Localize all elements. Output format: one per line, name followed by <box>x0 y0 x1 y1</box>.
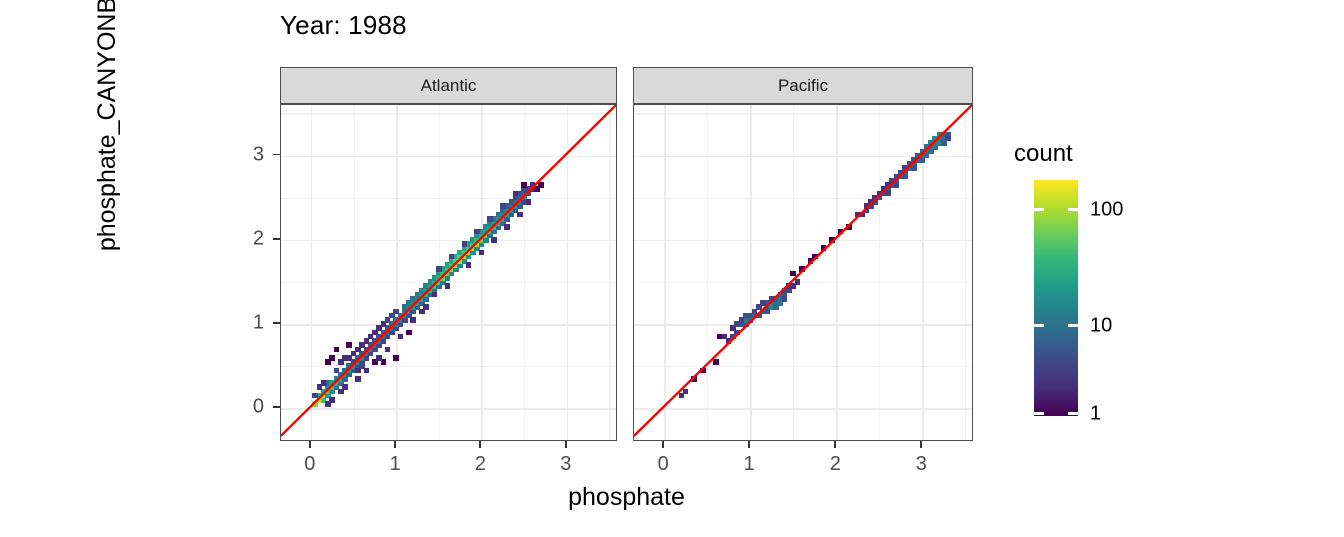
heatmap-bin <box>487 216 493 222</box>
legend-colorbar <box>1034 180 1078 416</box>
facet-strip-label: Pacific <box>634 68 972 103</box>
x-axis-tick <box>309 441 311 448</box>
y-axis-title: phosphate_CANYONB <box>89 0 125 289</box>
x-axis-tick-label: 2 <box>830 453 841 476</box>
heatmap-bin <box>321 380 327 386</box>
x-axis-tick-label: 0 <box>658 453 669 476</box>
heatmap-bin <box>500 203 506 209</box>
panel-plot-area <box>634 105 972 440</box>
x-axis-tick-label: 1 <box>744 453 755 476</box>
heatmap-bin <box>393 309 399 315</box>
legend-key-label-1: 1 <box>1090 403 1101 426</box>
heatmap-bin <box>449 254 455 260</box>
x-axis-tick <box>479 441 481 448</box>
heatmap-bin <box>691 376 697 382</box>
heatmap-bin <box>534 186 540 192</box>
legend-tick-1 <box>1034 412 1044 415</box>
heatmap-bin <box>436 266 442 272</box>
page-title: Year: 1988 <box>280 10 407 41</box>
heatmap-bin <box>521 182 527 188</box>
heatmap-bin <box>393 355 399 361</box>
heatmap-bin <box>743 313 749 319</box>
panel-atlantic <box>280 104 617 441</box>
heatmap-bin <box>838 229 844 235</box>
gridline-minor-horizontal <box>634 282 972 283</box>
heatmap-bin <box>769 296 775 302</box>
heatmap-bin <box>864 203 870 209</box>
heatmap-bin <box>513 191 519 197</box>
gridline-major-horizontal <box>281 324 616 326</box>
heatmap-bin <box>479 250 485 256</box>
gridline-major-horizontal <box>281 408 616 410</box>
gridline-major-horizontal <box>634 324 972 326</box>
heatmap-bin <box>329 355 335 361</box>
facet-strip-pacific: Pacific <box>633 67 973 104</box>
heatmap-bin <box>334 347 340 353</box>
heatmap-bin <box>491 237 497 243</box>
heatmap-bin <box>773 304 779 310</box>
heatmap-bin <box>829 237 835 243</box>
heatmap-bin <box>799 266 805 272</box>
y-axis-tick-label: 1 <box>218 312 264 335</box>
heatmap-bin <box>812 254 818 260</box>
x-axis-tick <box>565 441 567 448</box>
x-axis-tick-label: 3 <box>560 453 571 476</box>
x-axis-title: phosphate <box>280 483 973 512</box>
gridline-major-horizontal <box>281 240 616 242</box>
legend-tick-100-right <box>1068 208 1078 211</box>
heatmap-bin <box>700 368 706 374</box>
heatmap-bin <box>410 317 416 323</box>
x-axis-tick-label: 0 <box>304 453 315 476</box>
gridline-minor-horizontal <box>634 113 972 114</box>
heatmap-bin <box>406 330 412 336</box>
facet-strip-label: Atlantic <box>281 68 616 103</box>
heatmap-bin <box>786 283 792 289</box>
heatmap-bin <box>432 292 438 298</box>
heatmap-bin <box>846 224 852 230</box>
gridline-minor-horizontal <box>281 366 616 367</box>
legend-tick-10-right <box>1068 324 1078 327</box>
gridline-major-horizontal <box>634 408 972 410</box>
heatmap-bin <box>329 397 335 403</box>
legend-title: count <box>1014 140 1073 168</box>
heatmap-bin <box>526 199 532 205</box>
heatmap-bin <box>346 342 352 348</box>
y-axis-tick <box>273 322 280 324</box>
heatmap-bin <box>334 368 340 374</box>
gridline-major-horizontal <box>634 240 972 242</box>
heatmap-bin <box>364 368 370 374</box>
legend-tick-100 <box>1034 208 1044 211</box>
gridline-major-horizontal <box>281 156 616 158</box>
legend-tick-10 <box>1034 324 1044 327</box>
y-axis-tick <box>273 154 280 156</box>
heatmap-bin <box>795 279 801 285</box>
legend-key-label-10: 10 <box>1090 315 1112 338</box>
x-axis-tick <box>394 441 396 448</box>
heatmap-bin <box>713 359 719 365</box>
heatmap-bin <box>683 389 689 395</box>
heatmap-bin <box>941 140 947 146</box>
panel-pacific <box>633 104 973 441</box>
heatmap-bin <box>445 283 451 289</box>
panel-plot-area <box>281 105 616 440</box>
heatmap-bin <box>790 271 796 277</box>
y-axis-tick-label: 0 <box>218 396 264 419</box>
y-axis-tick <box>273 238 280 240</box>
heatmap-bin <box>466 262 472 268</box>
ggplot-figure: Year: 1988 phosphate_CANYONB phosphate A… <box>0 0 1344 537</box>
heatmap-bin <box>937 132 943 138</box>
gridline-minor-horizontal <box>281 198 616 199</box>
y-axis-tick <box>273 406 280 408</box>
x-axis-tick <box>662 441 664 448</box>
x-axis-tick <box>920 441 922 448</box>
heatmap-bin <box>312 393 318 399</box>
heatmap-bin <box>474 229 480 235</box>
x-axis-tick-label: 3 <box>916 453 927 476</box>
x-axis-tick <box>834 441 836 448</box>
y-axis-tick-label: 2 <box>218 227 264 250</box>
x-axis-tick-label: 1 <box>390 453 401 476</box>
heatmap-bin <box>462 241 468 247</box>
heatmap-bin <box>752 309 758 315</box>
heatmap-bin <box>504 224 510 230</box>
legend-tick-1-right <box>1068 412 1078 415</box>
gridline-minor-horizontal <box>634 198 972 199</box>
heatmap-bin <box>821 245 827 251</box>
heatmap-bin <box>423 304 429 310</box>
heatmap-bin <box>722 334 728 340</box>
heatmap-bin <box>385 347 391 353</box>
gridline-minor-horizontal <box>281 113 616 114</box>
y-axis-tick-label: 3 <box>218 143 264 166</box>
heatmap-bin <box>765 309 771 315</box>
gridline-minor-horizontal <box>634 366 972 367</box>
heatmap-bin <box>376 355 382 361</box>
heatmap-bin <box>398 334 404 340</box>
heatmap-bin <box>351 359 357 365</box>
legend-key-label-100: 100 <box>1090 199 1123 222</box>
heatmap-bin <box>782 296 788 302</box>
heatmap-bin <box>517 212 523 218</box>
heatmap-bin <box>342 355 348 361</box>
heatmap-bin <box>342 384 348 390</box>
facet-strip-atlantic: Atlantic <box>280 67 617 104</box>
x-axis-tick-label: 2 <box>475 453 486 476</box>
x-axis-tick <box>748 441 750 448</box>
heatmap-bin <box>355 376 361 382</box>
